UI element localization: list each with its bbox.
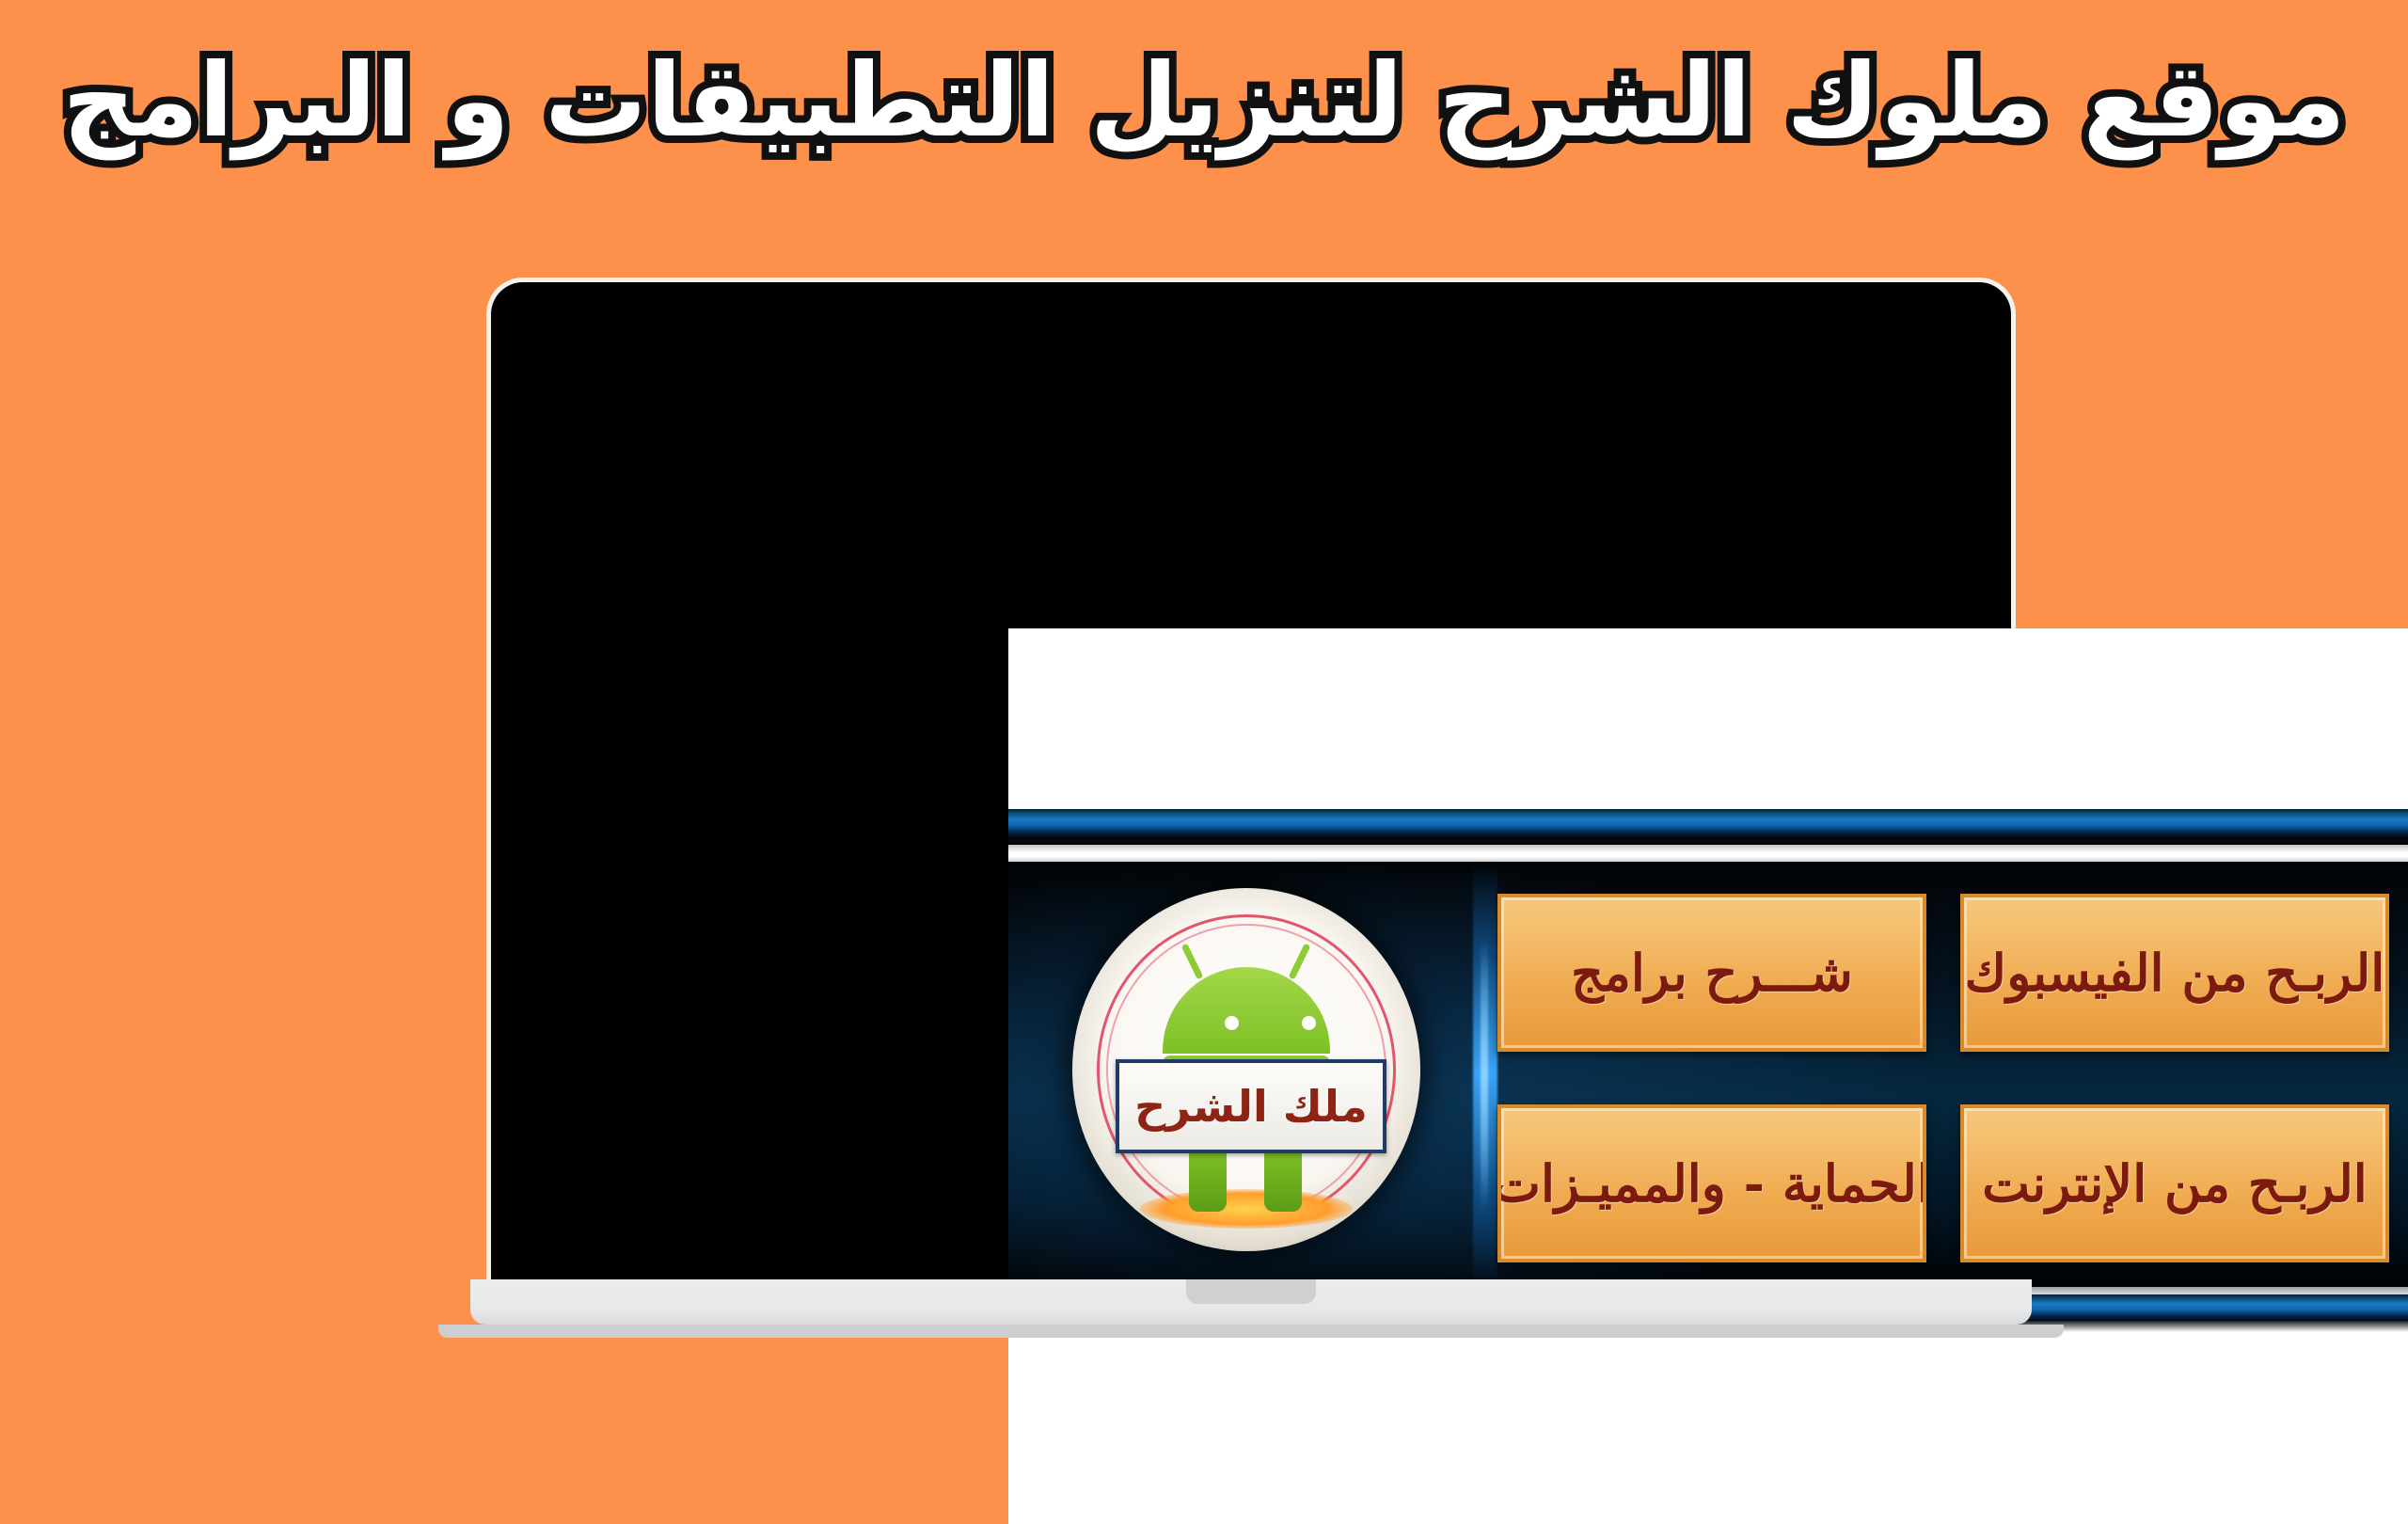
android-head — [1163, 967, 1330, 1054]
nav-button-earn-internet[interactable]: الربـح من الإنترنت — [1960, 1104, 2389, 1262]
nav-button-label: الربـح من الفيسبوك — [1965, 943, 2385, 1003]
nav-button-label: الحماية - والمميـزات — [1497, 1153, 1926, 1214]
browser-screen: ملك الشرح شـــرح برامج الربـح من الفيسبو… — [1008, 628, 2408, 1524]
poster-canvas: موقع ملوك الشرح لتنزيل التطبيقات و البرا… — [0, 0, 2408, 1355]
site-header: ملك الشرح شـــرح برامج الربـح من الفيسبو… — [1008, 862, 2408, 1287]
page-title: موقع ملوك الشرح لتنزيل التطبيقات و البرا… — [62, 46, 2345, 158]
divider-top-black-bar — [1008, 837, 2408, 845]
laptop-base-notch — [1186, 1279, 1316, 1304]
nav-button-earn-facebook[interactable]: الربـح من الفيسبوك — [1960, 894, 2389, 1052]
laptop-mockup: ملك الشرح شـــرح برامج الربـح من الفيسبو… — [470, 282, 2032, 1279]
laptop-base-foot — [438, 1325, 2064, 1338]
android-leg-right — [1264, 1150, 1302, 1212]
nav-button-grid: شـــرح برامج الربـح من الفيسبوك الحماية … — [1497, 894, 2382, 1255]
divider-top-white-bar — [1008, 845, 2408, 862]
nav-column-separator — [1473, 862, 1497, 1287]
nav-button-software-tutorials[interactable]: شـــرح برامج — [1497, 894, 1926, 1052]
site-top-blank-area — [1008, 628, 2408, 809]
nav-button-protection-features[interactable]: الحماية - والمميـزات — [1497, 1104, 1926, 1262]
site-logo[interactable]: ملك الشرح — [1072, 888, 1420, 1251]
android-leg-left — [1189, 1150, 1227, 1212]
android-eye-left — [1225, 1016, 1239, 1030]
headline-container: موقع ملوك الشرح لتنزيل التطبيقات و البرا… — [0, 26, 2408, 177]
site-bottom-blank-area — [1008, 1332, 2408, 1524]
divider-top-blue-bar — [1008, 809, 2408, 837]
nav-button-label: الربـح من الإنترنت — [1982, 1153, 2368, 1214]
nav-button-label: شـــرح برامج — [1571, 943, 1853, 1003]
logo-banner-label: ملك الشرح — [1134, 1081, 1368, 1132]
android-antenna-left — [1181, 943, 1204, 979]
divider-top — [1008, 809, 2408, 862]
android-eye-right — [1302, 1016, 1316, 1030]
android-antenna-right — [1289, 943, 1311, 979]
logo-banner: ملك الشرح — [1116, 1059, 1386, 1153]
